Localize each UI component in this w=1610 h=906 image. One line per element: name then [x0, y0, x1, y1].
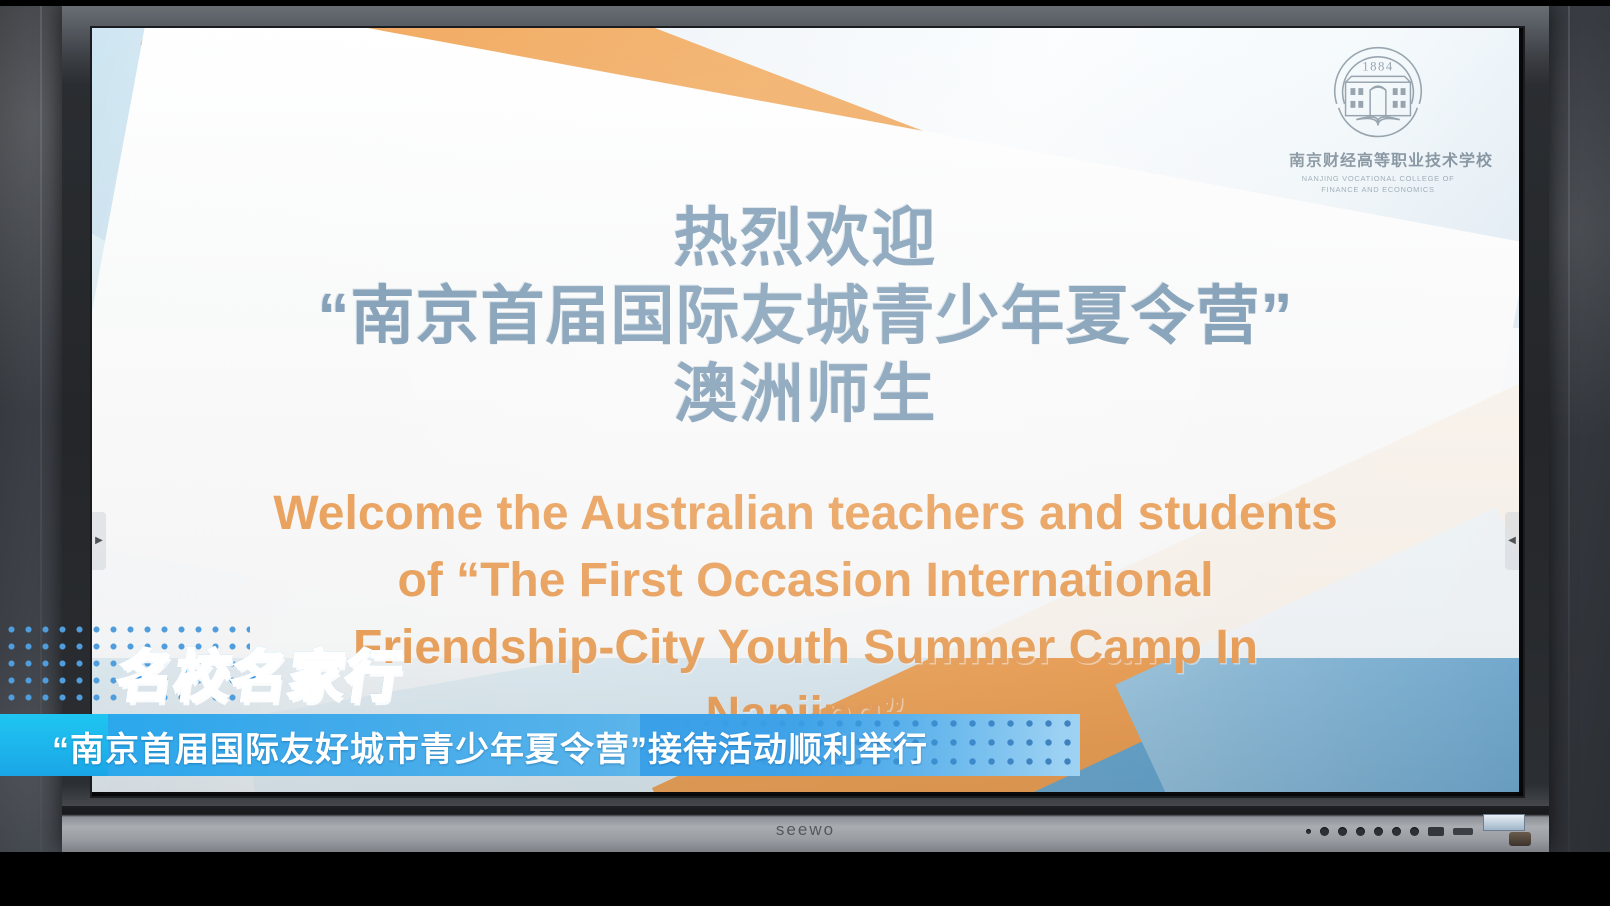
slide-cn-line-1: 热烈欢迎 [92, 206, 1519, 270]
vendor-mark-icon [1509, 832, 1531, 846]
hdmi-port-icon [1453, 828, 1473, 835]
brand-logo: seewo [776, 820, 835, 840]
model-sticker [1483, 814, 1525, 831]
slide-en-line-1: Welcome the Australian teachers and stud… [92, 480, 1519, 547]
usb-port-icon [1428, 827, 1444, 836]
port-icon [1320, 827, 1329, 836]
display-chin: seewo [62, 806, 1549, 852]
chevron-right-icon: ▶ [95, 536, 103, 546]
broadcast-lower-third: 名校名家行 “南京首届国际友好城市青少年夏令营”接待活动顺利举行 [0, 618, 1080, 798]
screenshot-stage: 1884 [0, 0, 1610, 906]
port-icon [1410, 827, 1419, 836]
screen-side-handle-right[interactable]: ◀ [1505, 512, 1519, 570]
slide-cn-line-2: “南京首届国际友城青少年夏令营” [92, 284, 1519, 348]
slide-cn-line-3: 澳洲师生 [92, 362, 1519, 426]
chevron-left-icon: ◀ [1508, 536, 1516, 546]
school-crest-icon: 1884 [1319, 46, 1437, 146]
school-name-cn: 南京财经高等职业技术学校 [1289, 148, 1467, 171]
port-icon [1392, 827, 1401, 836]
program-title: 名校名家行 [112, 632, 408, 713]
screen-side-handle-left[interactable]: ▶ [92, 512, 106, 570]
letterbox-bottom [0, 852, 1610, 906]
indicator-led-icon [1306, 829, 1311, 834]
port-icon [1338, 827, 1347, 836]
school-logo: 1884 [1289, 46, 1467, 194]
io-port-row [1306, 827, 1473, 836]
slide-en-line-2: of “The First Occasion International [92, 547, 1519, 614]
school-name-en-line1: NANJING VOCATIONAL COLLEGE OF [1289, 174, 1467, 183]
port-icon [1356, 827, 1365, 836]
svg-text:1884: 1884 [1362, 59, 1393, 73]
port-icon [1374, 827, 1383, 836]
slide-chinese-heading: 热烈欢迎 “南京首届国际友城青少年夏令营” 澳洲师生 [92, 206, 1519, 436]
wall-panel-seam [1568, 0, 1570, 906]
school-name-en-line2: FINANCE AND ECONOMICS [1289, 185, 1467, 194]
letterbox-top [0, 0, 1610, 6]
headline-text: “南京首届国际友好城市青少年夏令营”接待活动顺利举行 [52, 722, 928, 771]
